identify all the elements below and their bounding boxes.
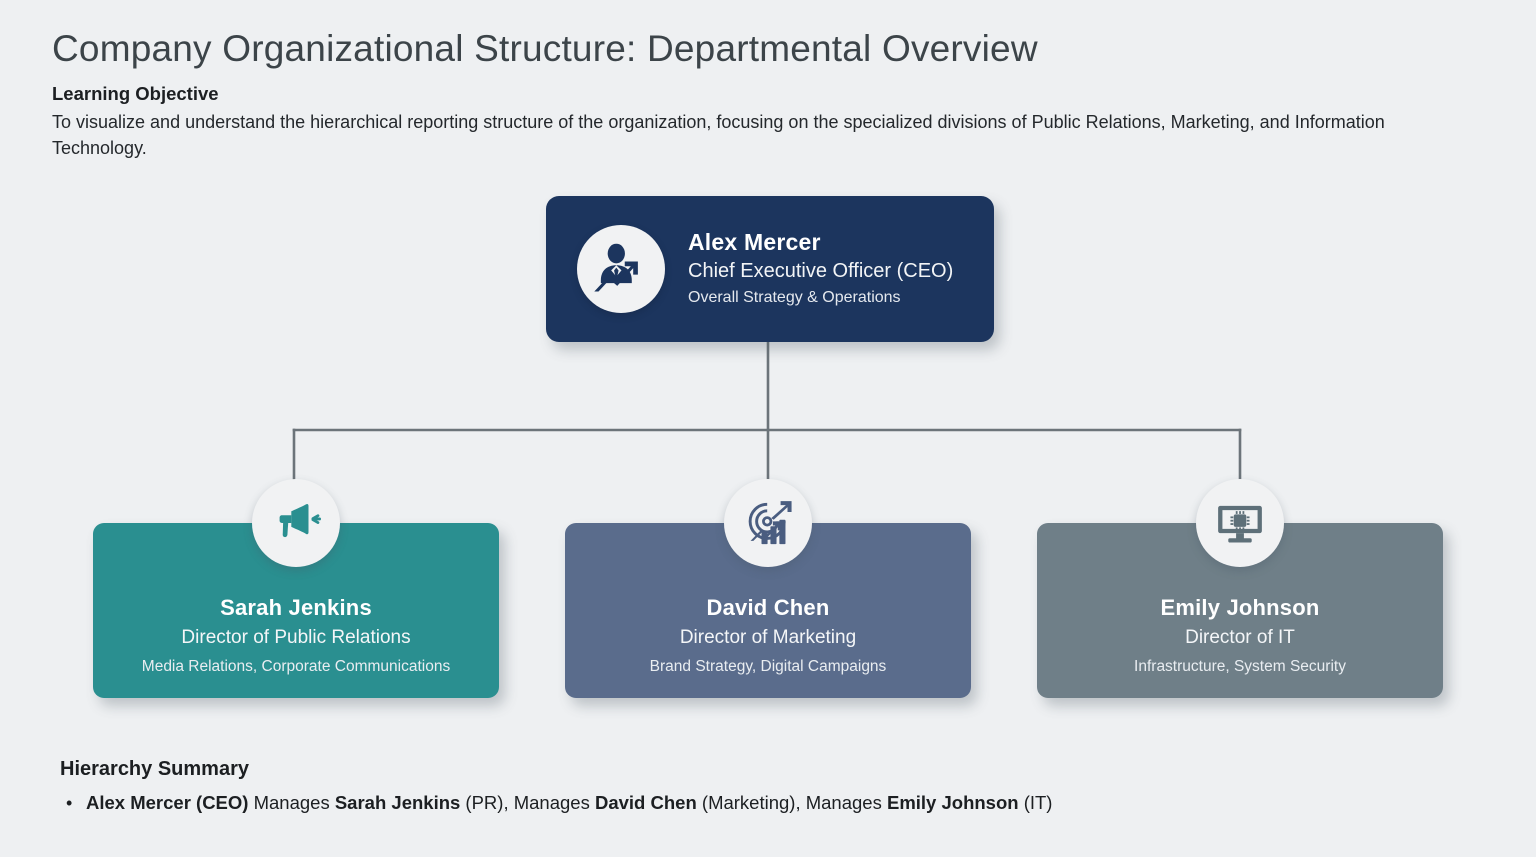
- summary-text: (Marketing), Manages: [697, 792, 887, 813]
- summary-emphasis: Alex Mercer (CEO): [86, 792, 248, 813]
- summary-text: Manages: [248, 792, 334, 813]
- hierarchy-summary: Hierarchy Summary • Alex Mercer (CEO) Ma…: [60, 757, 1460, 816]
- summary-text: (PR), Manages: [460, 792, 595, 813]
- ceo-scope: Overall Strategy & Operations: [688, 286, 953, 309]
- slide-header: Company Organizational Structure: Depart…: [52, 28, 1472, 161]
- hierarchy-summary-item: • Alex Mercer (CEO) Manages Sarah Jenkin…: [60, 791, 1460, 816]
- hierarchy-summary-title: Hierarchy Summary: [60, 757, 1460, 781]
- summary-emphasis: Sarah Jenkins: [335, 792, 460, 813]
- summary-emphasis: David Chen: [595, 792, 697, 813]
- department-scope: Brand Strategy, Digital Campaigns: [650, 656, 887, 678]
- department-card-it[interactable]: Emily Johnson Director of IT Infrastruct…: [1037, 523, 1443, 698]
- org-chart-slide: Company Organizational Structure: Depart…: [0, 0, 1536, 857]
- learning-objective-text: To visualize and understand the hierarch…: [52, 109, 1424, 161]
- page-title: Company Organizational Structure: Depart…: [52, 28, 1472, 71]
- department-scope: Infrastructure, System Security: [1134, 656, 1346, 678]
- department-name: Emily Johnson: [1160, 594, 1319, 623]
- department-card-public-relations[interactable]: Sarah Jenkins Director of Public Relatio…: [93, 523, 499, 698]
- bullet-icon: •: [60, 791, 86, 815]
- ceo-role: Chief Executive Officer (CEO): [688, 258, 953, 284]
- department-name: Sarah Jenkins: [220, 594, 372, 623]
- department-role: Director of Public Relations: [181, 625, 410, 650]
- department-role: Director of Marketing: [680, 625, 856, 650]
- ceo-text-block: Alex Mercer Chief Executive Officer (CEO…: [688, 228, 953, 309]
- learning-objective-label: Learning Objective: [52, 83, 1472, 105]
- department-scope: Media Relations, Corporate Communication…: [142, 656, 450, 678]
- executive-growth-icon: [577, 225, 665, 313]
- target-growth-chart-icon: [724, 479, 812, 567]
- hierarchy-summary-line: Alex Mercer (CEO) Manages Sarah Jenkins …: [86, 791, 1052, 816]
- megaphone-icon: [252, 479, 340, 567]
- department-name: David Chen: [706, 594, 829, 623]
- summary-emphasis: Emily Johnson: [887, 792, 1019, 813]
- department-card-marketing[interactable]: David Chen Director of Marketing Brand S…: [565, 523, 971, 698]
- monitor-chip-icon: [1196, 479, 1284, 567]
- summary-text: (IT): [1019, 792, 1053, 813]
- department-role: Director of IT: [1185, 625, 1295, 650]
- ceo-card[interactable]: Alex Mercer Chief Executive Officer (CEO…: [546, 196, 994, 342]
- ceo-name: Alex Mercer: [688, 228, 953, 257]
